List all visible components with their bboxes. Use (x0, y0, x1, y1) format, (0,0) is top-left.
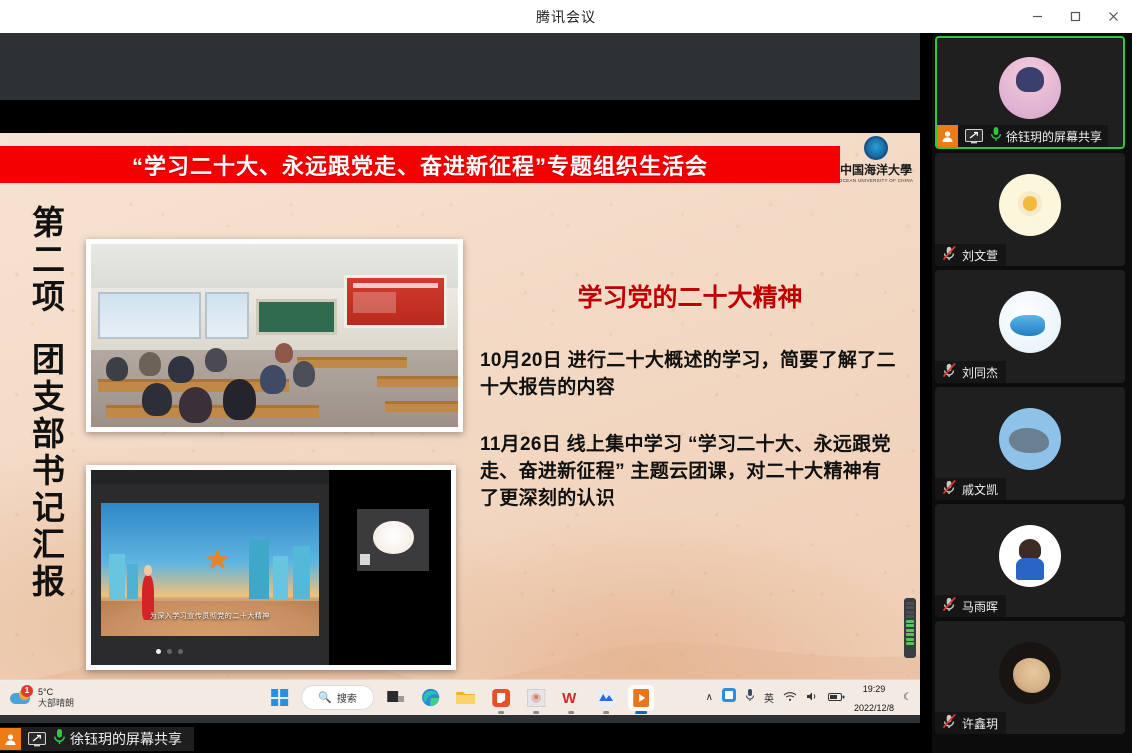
microphone-icon (990, 126, 1002, 147)
participant-tile[interactable]: 许鑫玥 (935, 621, 1125, 734)
microphone-muted-icon (942, 479, 958, 500)
photo-desk (377, 376, 458, 387)
participant-sidebar[interactable]: 徐钰玥的屏幕共享 刘文萱 刘同杰 (932, 33, 1132, 753)
battery-icon[interactable] (828, 689, 845, 707)
window-controls (1018, 0, 1132, 33)
taskbar-center-group: 🔍 搜索 (266, 685, 654, 711)
participant-tile[interactable]: 刘文萱 (935, 153, 1125, 266)
meeting-app-icon[interactable] (593, 685, 619, 711)
slide-vertical-title: 第二项 团支部书记汇报 (22, 205, 68, 601)
photo-window-left (98, 292, 201, 340)
search-input[interactable]: 🔍 搜索 (301, 685, 374, 710)
photo-student (260, 365, 286, 394)
photo-student (139, 352, 161, 376)
photo-window-right (205, 292, 249, 340)
weather-badge: 1 (21, 685, 33, 697)
presenter-status-bar: 徐钰玥的屏幕共享 (0, 727, 194, 751)
photo-desk (385, 401, 458, 412)
photo-student (223, 379, 256, 419)
participant-name: 戚文凯 (962, 481, 998, 498)
shared-screen-view[interactable]: “学习二十大、永远跟党走、奋进新征程”专题组织生活会 中国海洋大學 OCEAN … (0, 33, 920, 723)
university-logo: 中国海洋大學 OCEAN UNIVERSITY OF CHINA (838, 136, 914, 183)
screen-share-icon (965, 129, 983, 144)
screen-share-icon (28, 732, 46, 747)
avatar (999, 57, 1061, 119)
participant-tile[interactable]: 戚文凯 (935, 387, 1125, 500)
vertical-title-section: 第二项 (27, 205, 64, 316)
notes-app-icon[interactable] (488, 685, 514, 711)
participant-label: 刘同杰 (935, 361, 1006, 383)
microphone-muted-icon (942, 713, 958, 734)
participant-tile[interactable]: 马雨晖 (935, 504, 1125, 617)
app-title: 腾讯会议 (536, 7, 596, 27)
participant-tile[interactable]: 刘同杰 (935, 270, 1125, 383)
online-class-video: 为深入学习宣传贯彻党的二十大精神 (101, 503, 320, 636)
slide-text-column: 学习党的二十大精神 10月20日 进行二十大概述的学习，简要了解了二十大报告的内… (480, 278, 900, 543)
avatar (999, 408, 1061, 470)
participant-label: 许鑫玥 (935, 712, 1006, 734)
microphone-icon (53, 728, 66, 750)
participant-icon (937, 125, 958, 147)
system-tray: ∧ 英 (706, 679, 912, 716)
windows-start-icon[interactable] (266, 685, 292, 711)
clock-time: 19:29 (863, 684, 886, 694)
avatar (999, 642, 1061, 704)
online-class-screenshot: 为深入学习宣传贯彻党的二十大精神 (86, 465, 456, 670)
photo-student (142, 383, 171, 416)
participant-name: 刘同杰 (962, 364, 998, 381)
close-button[interactable] (1094, 0, 1132, 33)
weather-description: 大部晴朗 (38, 698, 74, 708)
file-explorer-icon[interactable] (453, 685, 479, 711)
banner-title: “学习二十大、永远跟党走、奋进新征程”专题组织生活会 (132, 149, 708, 181)
photo-projector-screen (344, 275, 447, 328)
volume-icon[interactable] (806, 689, 819, 707)
wifi-icon[interactable] (783, 689, 797, 707)
weather-icon: 1 (10, 689, 32, 707)
task-view-icon[interactable] (383, 685, 409, 711)
tray-app-icon[interactable] (722, 688, 736, 707)
online-class-window: 为深入学习宣传贯彻党的二十大精神 (91, 470, 329, 665)
photo-student (205, 348, 227, 372)
party-emblem-icon (205, 548, 229, 569)
vertical-title-topic: 团支部书记汇报 (27, 342, 64, 601)
online-class-titlebar (91, 470, 329, 484)
slide-paragraph-1: 10月20日 进行二十大概述的学习，简要了解了二十大报告的内容 (480, 348, 900, 402)
participant-name: 许鑫玥 (962, 715, 998, 732)
maximize-button[interactable] (1056, 0, 1094, 33)
taskbar-clock[interactable]: 19:29 2022/12/8 (854, 679, 894, 716)
university-seal-icon (864, 136, 888, 160)
microphone-muted-icon (942, 362, 958, 383)
wps-office-icon[interactable]: W (558, 685, 584, 711)
online-class-subtitle: 为深入学习宣传贯彻党的二十大精神 (101, 611, 320, 621)
edge-browser-icon[interactable] (418, 685, 444, 711)
search-placeholder: 搜索 (337, 690, 357, 705)
photo-student (168, 356, 194, 383)
participant-label: 戚文凯 (935, 478, 1006, 500)
photo-blackboard (256, 299, 337, 336)
weather-temperature: 5°C (38, 687, 74, 697)
photo-desk (106, 405, 319, 418)
online-class-participant-thumb (357, 509, 429, 571)
participant-label: 徐钰玥的屏幕共享 (937, 125, 1108, 147)
photo-teacher (275, 343, 293, 363)
slide-banner: “学习二十大、永远跟党走、奋进新征程”专题组织生活会 (0, 146, 840, 183)
microphone-muted-icon (942, 245, 958, 266)
screen-letterbox (0, 100, 920, 133)
taskbar-weather-widget[interactable]: 1 5°C 大部晴朗 (10, 687, 74, 708)
bottom-bar: 徐钰玥的屏幕共享 (0, 723, 920, 753)
tray-microphone-icon[interactable] (745, 688, 755, 707)
photo-student (106, 357, 128, 381)
photo-student (293, 361, 315, 387)
thumb-badge (360, 554, 370, 565)
participant-label: 马雨晖 (935, 595, 1006, 617)
participant-icon (0, 728, 21, 750)
audio-level-indicator[interactable] (904, 598, 916, 658)
university-name-cn: 中国海洋大學 (838, 161, 914, 178)
participant-name: 徐钰玥的屏幕共享 (1006, 128, 1102, 145)
classroom-photo (86, 239, 463, 432)
slide-paragraph-2: 11月26日 线上集中学习 “学习二十大、永远跟党走、奋进新征程” 主题云团课，… (480, 432, 900, 513)
participant-tile[interactable]: 徐钰玥的屏幕共享 (935, 36, 1125, 149)
tray-overflow-icon[interactable]: ∧ (706, 692, 713, 703)
university-name-en: OCEAN UNIVERSITY OF CHINA (838, 178, 914, 183)
do-not-disturb-moon-icon[interactable]: ☾ (903, 692, 912, 703)
presenter-name: 徐钰玥的屏幕共享 (70, 729, 182, 749)
meeting-stage: “学习二十大、永远跟党走、奋进新征程”专题组织生活会 中国海洋大學 OCEAN … (0, 33, 1132, 753)
thumb-avatar (373, 521, 413, 553)
window-title-bar: 腾讯会议 (0, 0, 1132, 33)
search-icon: 🔍 (318, 691, 332, 704)
svg-text:W: W (562, 690, 577, 706)
avatar (999, 291, 1061, 353)
powerpoint-icon[interactable] (628, 685, 654, 711)
clock-date: 2022/12/8 (854, 703, 894, 713)
microphone-muted-icon (942, 596, 958, 617)
online-class-page-dots (91, 641, 248, 659)
slide-heading: 学习党的二十大精神 (480, 278, 900, 314)
minimize-button[interactable] (1018, 0, 1056, 33)
avatar (999, 525, 1061, 587)
windows-taskbar[interactable]: 1 5°C 大部晴朗 🔍 搜索 (0, 679, 920, 715)
participant-name: 马雨晖 (962, 598, 998, 615)
online-class-presenter-head (144, 565, 151, 576)
photos-app-icon[interactable] (523, 685, 549, 711)
photo-student (179, 387, 212, 424)
avatar (999, 174, 1061, 236)
participant-name: 刘文萱 (962, 247, 998, 264)
shared-desktop-capture: “学习二十大、永远跟党走、奋进新征程”专题组织生活会 中国海洋大學 OCEAN … (0, 133, 920, 715)
participant-label: 刘文萱 (935, 244, 1006, 266)
ime-indicator[interactable]: 英 (764, 690, 774, 705)
